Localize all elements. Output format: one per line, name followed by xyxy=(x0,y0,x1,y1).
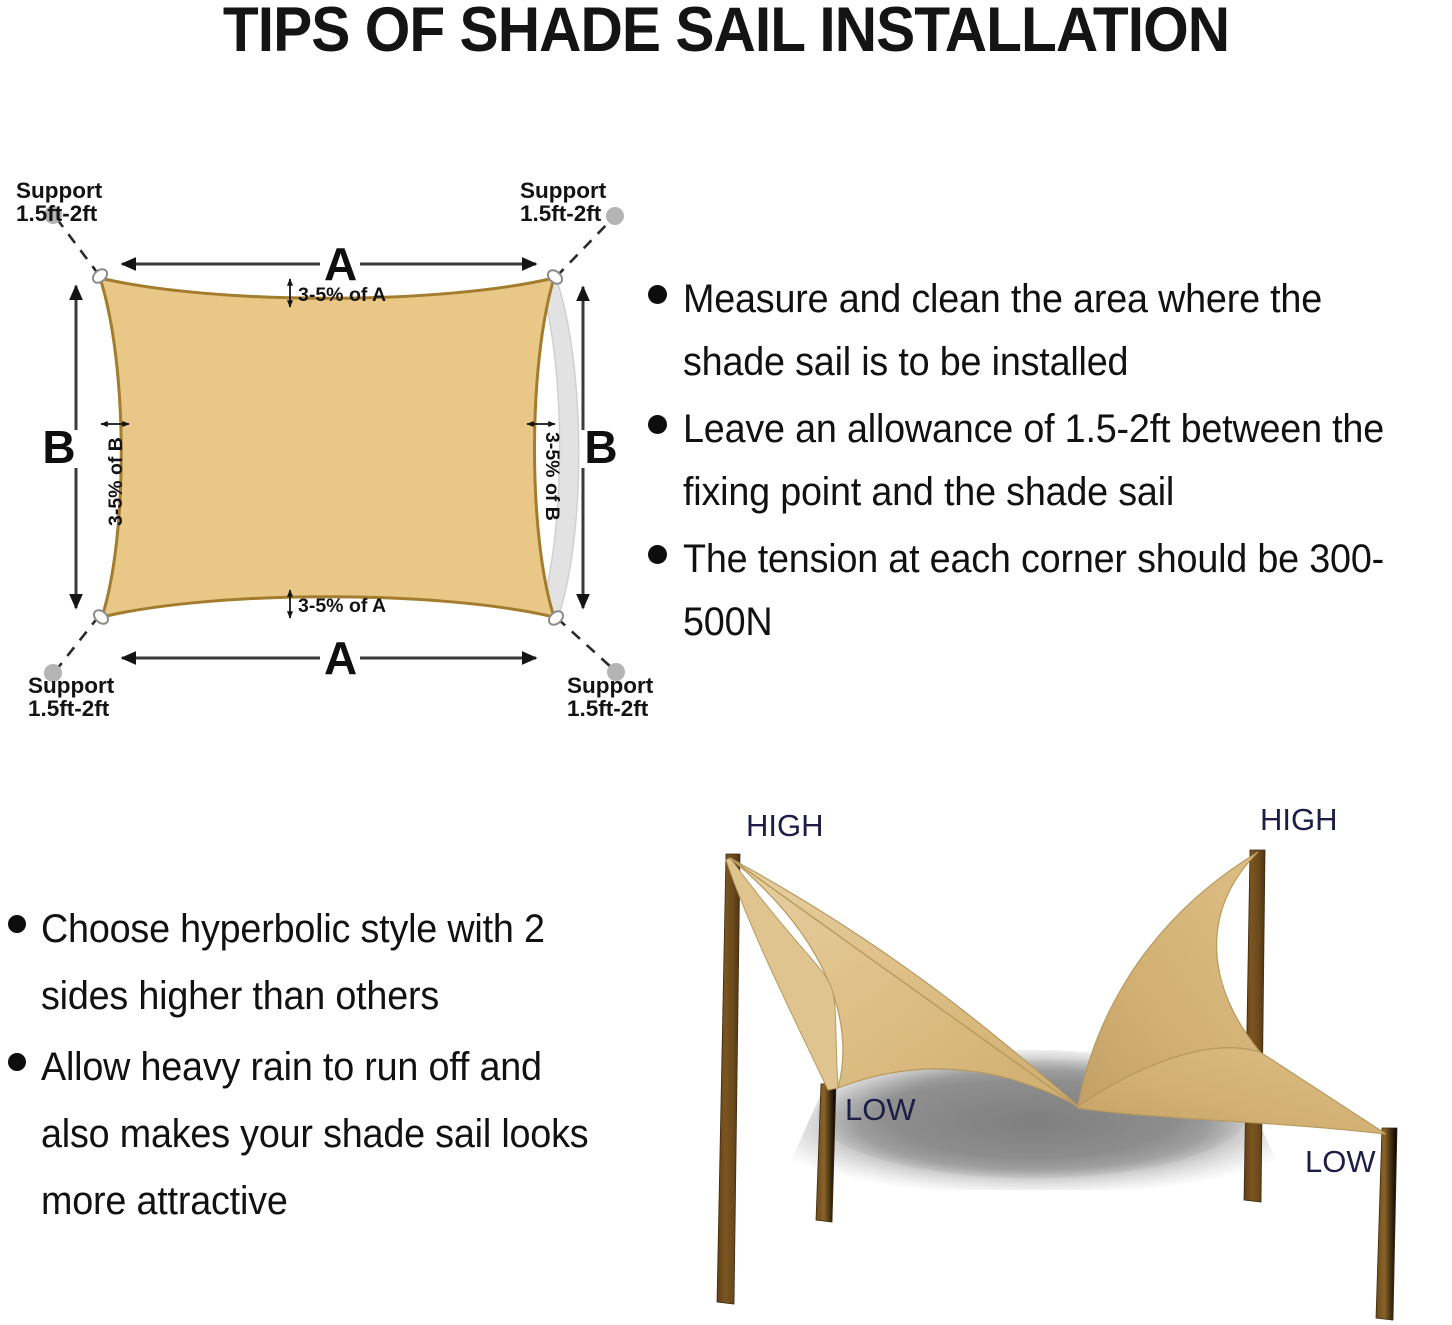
support-label-bottom-left-line2: 1.5ft-2ft xyxy=(28,696,110,721)
shade-sail-dimensions-diagram: Support 1.5ft-2ft Support 1.5ft-2ft Supp… xyxy=(0,150,680,740)
list-item: Measure and clean the area where the sha… xyxy=(648,268,1452,394)
installation-tips-list: Measure and clean the area where the sha… xyxy=(648,268,1452,658)
dimension-b-left: B xyxy=(42,286,76,608)
tether-bottom-left xyxy=(57,616,99,669)
dimension-a-top: A xyxy=(122,238,536,290)
post-low-right xyxy=(1376,1128,1397,1320)
support-label-top-right-line2: 1.5ft-2ft xyxy=(520,201,602,226)
style-note-text: Choose hyperbolic style with 2 sides hig… xyxy=(41,896,602,1030)
dimension-a-bottom: A xyxy=(122,632,536,684)
support-label-bottom-right-line2: 1.5ft-2ft xyxy=(567,696,649,721)
support-label-bottom-left-line1: Support xyxy=(28,673,115,698)
pct-a-bottom-label: 3-5% of A xyxy=(298,595,386,617)
bullet-dot-icon xyxy=(648,415,667,434)
callout-pct-a-bottom: 3-5% of A xyxy=(290,590,386,618)
tip-text: The tension at each corner should be 300… xyxy=(683,528,1417,654)
list-item: Allow heavy rain to run off and also mak… xyxy=(8,1034,628,1235)
list-item: Leave an allowance of 1.5-2ft between th… xyxy=(648,398,1452,524)
dim-letter-b-left: B xyxy=(42,421,75,473)
dim-letter-a-bottom: A xyxy=(324,632,357,684)
tether-top-right xyxy=(556,220,611,277)
label-low-left: LOW xyxy=(845,1092,916,1127)
pct-b-left-label: 3-5% of B xyxy=(105,437,127,526)
label-high-left: HIGH xyxy=(746,808,824,843)
shade-sail-shape xyxy=(100,278,554,617)
tip-text: Measure and clean the area where the sha… xyxy=(683,268,1417,394)
post-high-left xyxy=(717,854,740,1304)
label-low-right: LOW xyxy=(1305,1144,1376,1179)
pct-a-top-label: 3-5% of A xyxy=(298,284,386,306)
callout-pct-b-left: 3-5% of B xyxy=(101,424,129,526)
support-label-top-right-line1: Support xyxy=(520,178,607,203)
callout-pct-a-top: 3-5% of A xyxy=(290,279,386,307)
dim-letter-a-top: A xyxy=(324,238,357,290)
page-title: TIPS OF SHADE SAIL INSTALLATION xyxy=(51,0,1401,66)
hyperbolic-style-notes-list: Choose hyperbolic style with 2 sides hig… xyxy=(8,896,628,1239)
label-high-right: HIGH xyxy=(1260,802,1338,837)
tether-bottom-right xyxy=(557,618,612,668)
dim-letter-b-right: B xyxy=(584,421,617,473)
support-label-bottom-right-line1: Support xyxy=(567,673,654,698)
hyperbolic-shade-sail-illustration: HIGH HIGH LOW LOW xyxy=(660,790,1452,1325)
list-item: The tension at each corner should be 300… xyxy=(648,528,1452,654)
bullet-dot-icon xyxy=(8,1053,26,1071)
support-label-top-left-line1: Support xyxy=(16,178,103,203)
support-label-top-left-line2: 1.5ft-2ft xyxy=(16,201,98,226)
bullet-dot-icon xyxy=(8,915,26,933)
post-high-right xyxy=(1244,850,1265,1202)
tether-top-left xyxy=(57,219,99,275)
style-note-text: Allow heavy rain to run off and also mak… xyxy=(41,1034,602,1235)
pct-b-right-label: 3-5% of B xyxy=(541,432,563,521)
dimension-b-right: B xyxy=(583,287,618,608)
bullet-dot-icon xyxy=(648,545,667,564)
tip-text: Leave an allowance of 1.5-2ft between th… xyxy=(683,398,1417,524)
support-dot-top-right xyxy=(606,207,624,225)
list-item: Choose hyperbolic style with 2 sides hig… xyxy=(8,896,628,1030)
infographic-page: TIPS OF SHADE SAIL INSTALLATION Support … xyxy=(0,0,1452,1325)
bullet-dot-icon xyxy=(648,285,667,304)
